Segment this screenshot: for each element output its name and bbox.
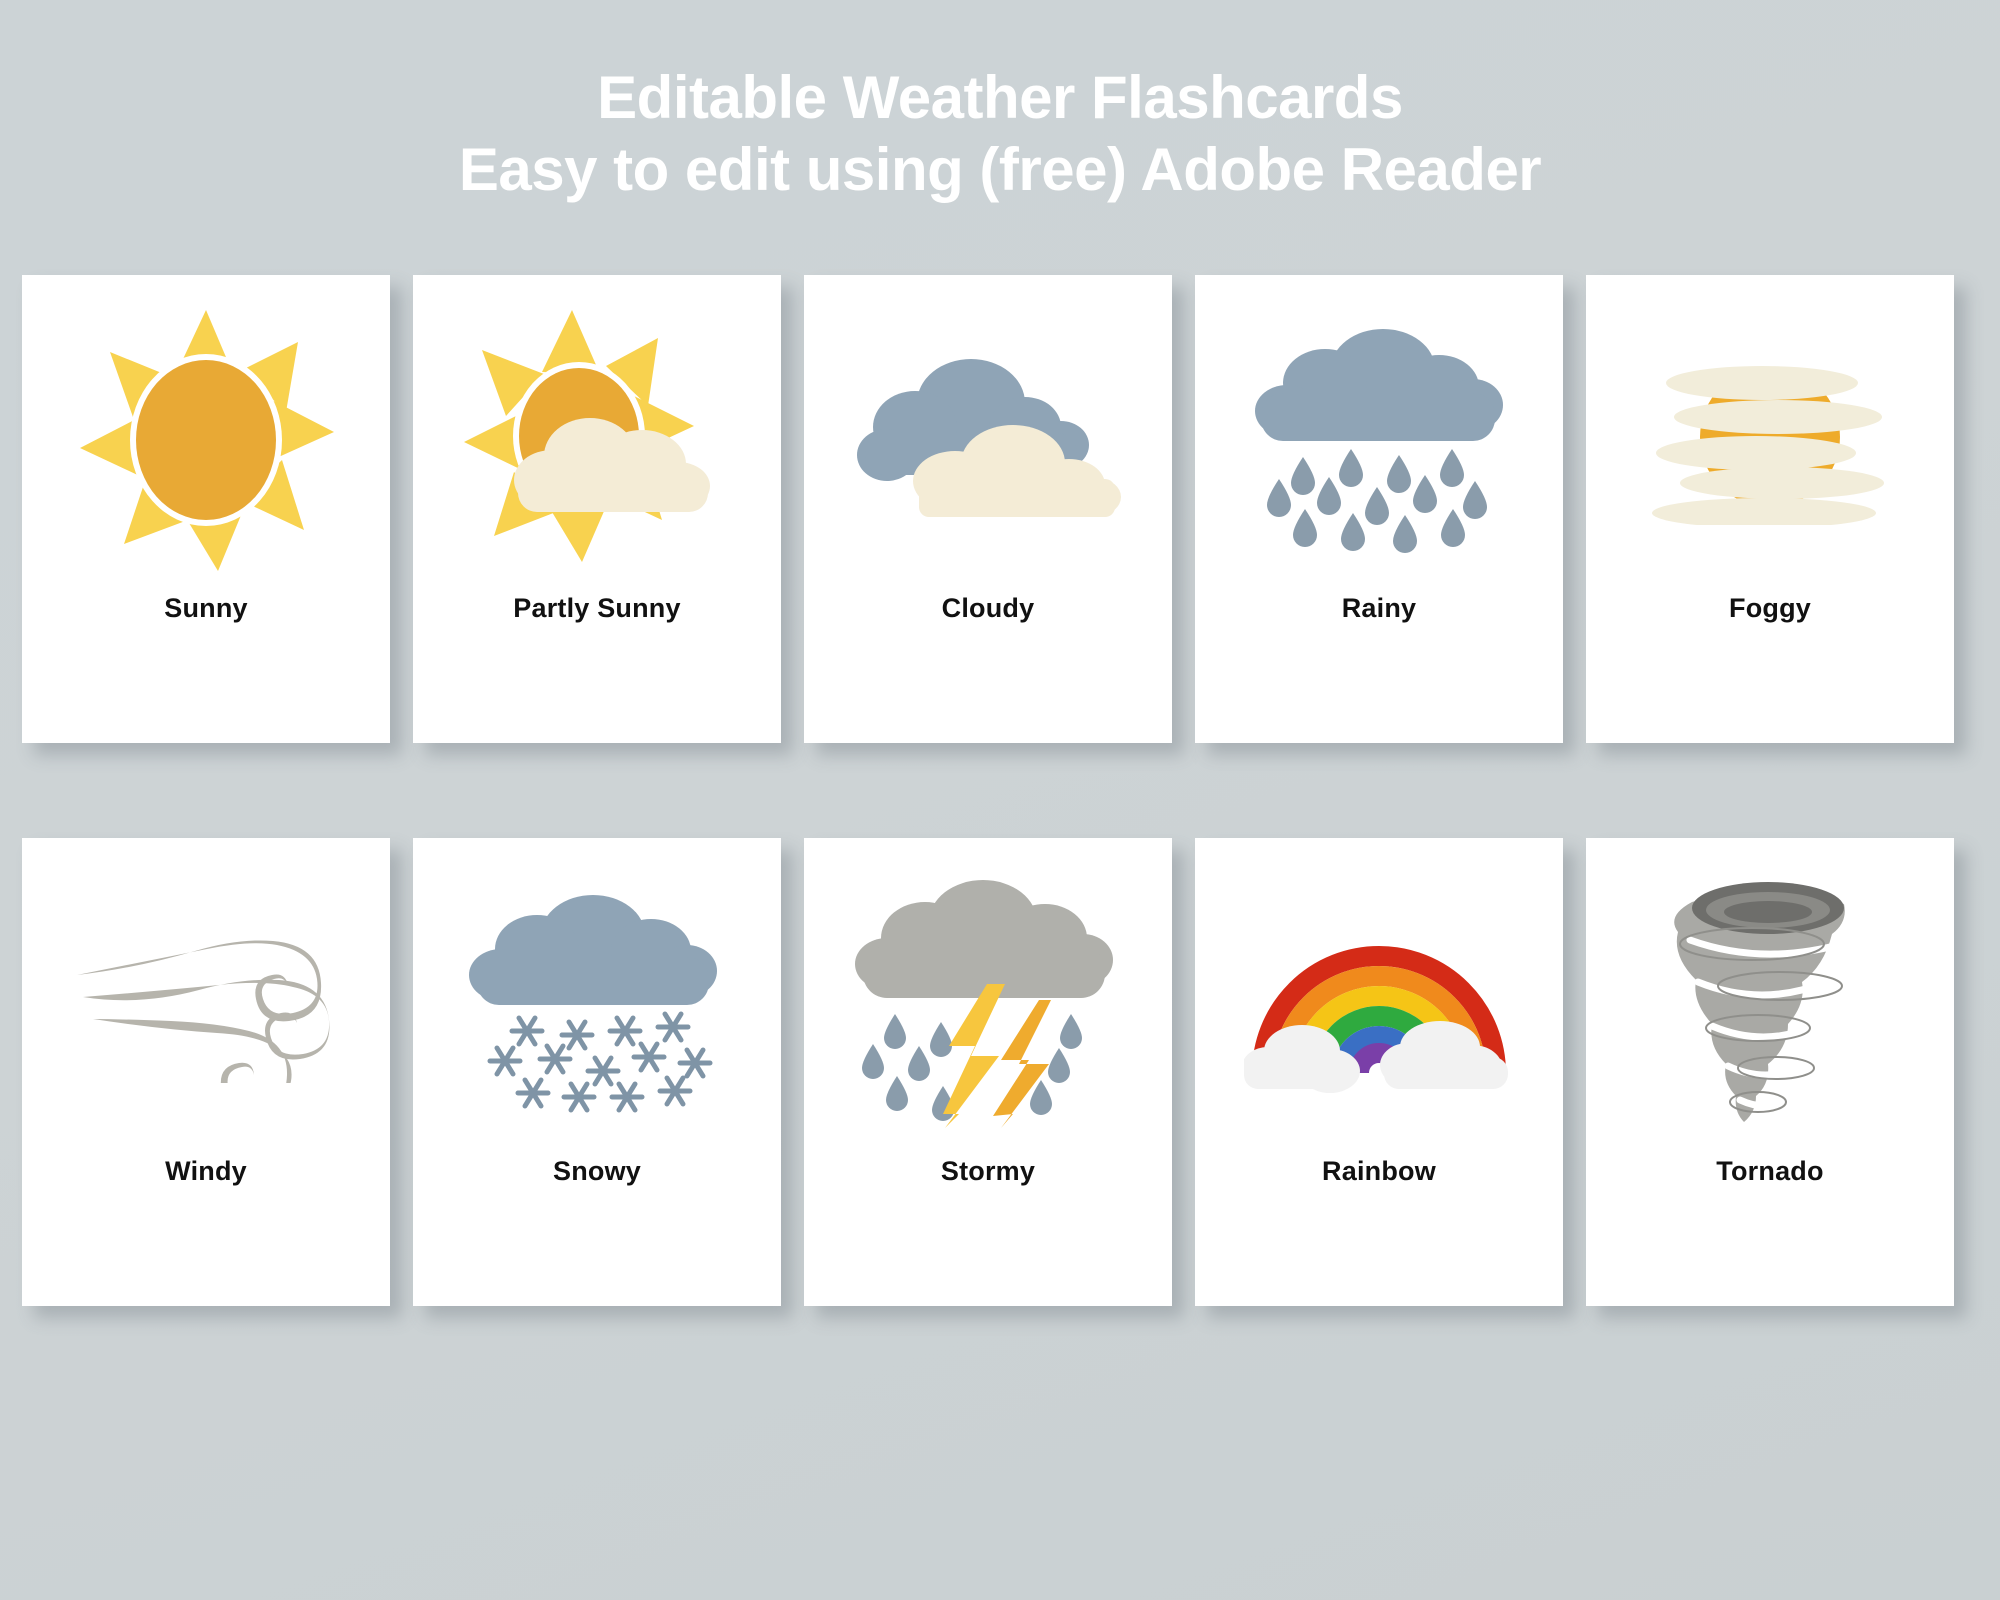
flashcard-label: Snowy [553,1156,641,1187]
tornado-icon [1586,838,1954,1168]
cloud-with-rain-icon [1195,275,1563,605]
page-title: Editable Weather Flashcards Easy to edit… [0,62,2000,206]
flashcard-sunny[interactable]: Sunny [22,275,390,743]
flashcard-label: Rainy [1342,593,1417,624]
flashcard-label: Stormy [941,1156,1035,1187]
wind-swirl-icon [22,838,390,1168]
flashcard-row-2: Windy [22,838,1962,1306]
flashcard-foggy[interactable]: Foggy [1586,275,1954,743]
flashcard-row-1: Sunny [22,275,1962,743]
flashcard-partly-sunny[interactable]: Partly Sunny [413,275,781,743]
sun-behind-fog-icon [1586,275,1954,605]
flashcard-rainy[interactable]: Rainy [1195,275,1563,743]
cloud-with-lightning-icon [804,838,1172,1168]
flashcard-label: Sunny [164,593,248,624]
flashcard-tornado[interactable]: Tornado [1586,838,1954,1306]
cloud-with-snow-icon [413,838,781,1168]
flashcard-windy[interactable]: Windy [22,838,390,1306]
sun-icon [22,275,390,605]
flashcard-label: Tornado [1716,1156,1823,1187]
flashcard-label: Rainbow [1322,1156,1436,1187]
flashcard-label: Partly Sunny [513,593,680,624]
flashcard-stormy[interactable]: Stormy [804,838,1172,1306]
flashcard-rainbow[interactable]: Rainbow [1195,838,1563,1306]
page-title-line-2: Easy to edit using (free) Adobe Reader [0,134,2000,206]
flashcard-cloudy[interactable]: Cloudy [804,275,1172,743]
flashcard-label: Foggy [1729,593,1811,624]
flashcard-grid: Sunny [22,275,1962,1306]
sun-behind-cloud-icon [413,275,781,605]
flashcard-snowy[interactable]: Snowy [413,838,781,1306]
flashcard-poster: Editable Weather Flashcards Easy to edit… [0,0,2000,1600]
flashcard-label: Windy [165,1156,247,1187]
flashcard-label: Cloudy [942,593,1035,624]
page-title-line-1: Editable Weather Flashcards [0,62,2000,134]
rainbow-icon [1195,838,1563,1168]
clouds-icon [804,275,1172,605]
